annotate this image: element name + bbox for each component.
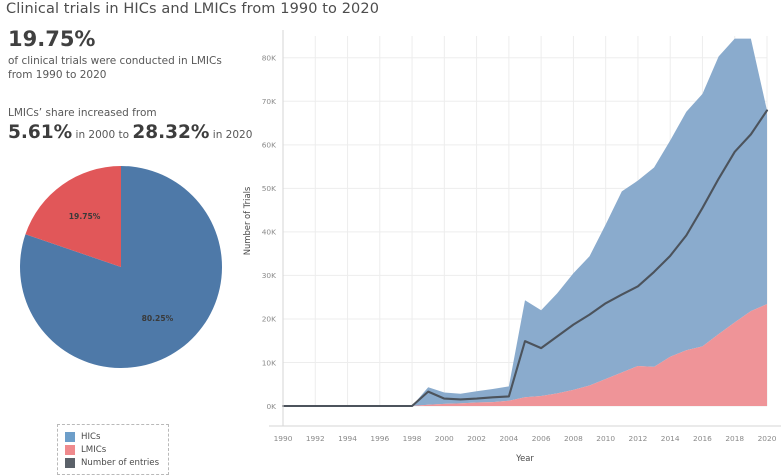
x-axis-tick-label: 2004 xyxy=(499,434,518,443)
x-axis-tick-label: 1992 xyxy=(306,434,325,443)
pie-slice-label: 19.75% xyxy=(69,212,101,221)
legend-swatch-icon xyxy=(65,458,75,468)
share-block: LMICs’ share increased from 5.61% in 200… xyxy=(8,106,240,143)
legend-label: LMICs xyxy=(81,445,106,455)
x-axis-tick-label: 1990 xyxy=(274,434,293,443)
summary-panel: 19.75% of clinical trials were conducted… xyxy=(0,24,240,469)
x-axis-tick-label: 2020 xyxy=(758,434,777,443)
area-chart[interactable]: 0K10K20K30K40K50K60K70K80K19901992199419… xyxy=(236,24,783,469)
y-axis-tick-label: 50K xyxy=(262,184,276,193)
legend-item[interactable]: LMICs xyxy=(65,443,159,456)
legend-swatch-icon xyxy=(65,445,75,455)
legend-label: HICs xyxy=(81,432,100,442)
chart-legend: HICsLMICsNumber of entries xyxy=(57,424,169,475)
share-to-value: 28.32% xyxy=(132,122,209,143)
y-axis-tick-label: 20K xyxy=(262,315,276,324)
kpi-description-line1: of clinical trials were conducted in LMI… xyxy=(8,54,238,69)
x-axis-tick-label: 2008 xyxy=(564,434,583,443)
x-axis-tick-label: 2002 xyxy=(467,434,486,443)
y-axis-title: Number of Trials xyxy=(242,187,252,256)
x-axis-tick-label: 2014 xyxy=(661,434,680,443)
y-axis-tick-label: 0K xyxy=(266,402,276,411)
page-title: Clinical trials in HICs and LMICs from 1… xyxy=(6,1,379,17)
y-axis-tick-label: 40K xyxy=(262,228,276,237)
y-axis-tick-label: 10K xyxy=(262,358,276,367)
legend-label: Number of entries xyxy=(81,458,159,468)
pie-slice-label: 80.25% xyxy=(142,314,174,323)
pie-chart-svg[interactable]: 80.25%19.75% xyxy=(8,164,234,370)
x-axis-tick-label: 2010 xyxy=(596,434,615,443)
share-lead: LMICs’ share increased from xyxy=(8,106,240,121)
kpi-value: 19.75% xyxy=(8,28,238,52)
area-chart-svg[interactable]: 0K10K20K30K40K50K60K70K80K19901992199419… xyxy=(236,24,783,469)
legend-item[interactable]: HICs xyxy=(65,430,159,443)
legend-item[interactable]: Number of entries xyxy=(65,456,159,469)
kpi-description-line2: from 1990 to 2020 xyxy=(8,68,238,83)
legend-swatch-icon xyxy=(65,432,75,442)
y-axis-tick-label: 30K xyxy=(262,271,276,280)
pie-chart[interactable]: 80.25%19.75% xyxy=(8,164,234,370)
kpi-block: 19.75% of clinical trials were conducted… xyxy=(8,28,238,83)
share-from-word: in 2000 to xyxy=(72,129,132,141)
y-axis-tick-label: 60K xyxy=(262,141,276,150)
x-axis-tick-label: 2018 xyxy=(725,434,744,443)
x-axis-tick-label: 1994 xyxy=(338,434,357,443)
x-axis-tick-label: 1996 xyxy=(370,434,389,443)
x-axis-tick-label: 2000 xyxy=(435,434,454,443)
x-axis-tick-label: 2006 xyxy=(532,434,551,443)
x-axis-tick-label: 2012 xyxy=(629,434,648,443)
x-axis-title: Year xyxy=(515,453,534,463)
x-axis-tick-label: 2016 xyxy=(693,434,712,443)
y-axis-tick-label: 80K xyxy=(262,54,276,63)
y-axis-tick-label: 70K xyxy=(262,97,276,106)
share-from-value: 5.61% xyxy=(8,122,72,143)
x-axis-tick-label: 1998 xyxy=(403,434,422,443)
